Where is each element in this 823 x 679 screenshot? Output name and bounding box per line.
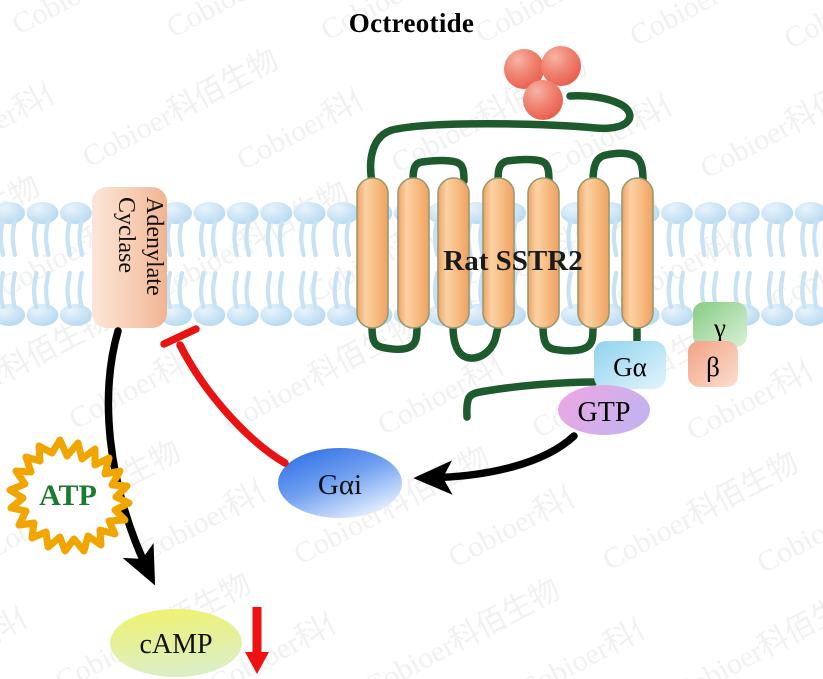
inhibition-arrow bbox=[164, 329, 285, 463]
lipid-tail bbox=[1, 273, 3, 307]
lipid-molecule bbox=[795, 202, 823, 255]
intracellular-loop-3 bbox=[543, 326, 593, 351]
pathway-diagram: Cobioer科佰生物 Cobioer科佰生物 bbox=[0, 0, 823, 679]
camp-label: cAMP bbox=[139, 629, 212, 660]
receptor-label: Rat SSTR2 bbox=[443, 245, 582, 277]
lipid-tail bbox=[280, 221, 282, 255]
adenylate-cyclase: Cyclase Adenylate bbox=[92, 187, 167, 328]
lipid-head bbox=[761, 304, 793, 326]
lipid-head bbox=[294, 202, 326, 224]
adenylate-cyclase-label-line1: Adenylate bbox=[141, 197, 167, 296]
atp-molecule: ATP bbox=[10, 440, 129, 551]
lipid-molecule bbox=[761, 202, 793, 255]
lipid-head bbox=[260, 202, 292, 224]
lipid-tail bbox=[614, 221, 616, 255]
lipid-tail bbox=[268, 221, 270, 255]
g-beta-label: β bbox=[706, 352, 720, 382]
lipid-head bbox=[694, 202, 726, 224]
lipid-tail bbox=[246, 221, 248, 255]
lipid-tail bbox=[313, 221, 315, 255]
lipid-molecule bbox=[193, 273, 225, 326]
lipid-tail bbox=[714, 221, 716, 255]
camp-molecule: cAMP bbox=[110, 609, 242, 677]
lipid-molecule bbox=[795, 273, 823, 326]
lipid-tail bbox=[46, 273, 48, 307]
lipid-tail bbox=[201, 221, 203, 255]
lipid-molecule bbox=[327, 202, 359, 255]
lipid-head bbox=[260, 304, 292, 326]
lipid-molecule bbox=[728, 202, 760, 255]
lipid-tail bbox=[180, 221, 182, 255]
lipid-tail bbox=[681, 273, 683, 307]
lipid-molecule bbox=[26, 202, 58, 255]
lipid-tail bbox=[168, 273, 170, 307]
lipid-head bbox=[661, 304, 693, 326]
lipid-tail bbox=[769, 273, 771, 307]
lipid-molecule bbox=[193, 202, 225, 255]
inhibition-arrow-shaft bbox=[180, 345, 285, 463]
lipid-molecule bbox=[0, 202, 25, 255]
page-title: Octreotide bbox=[0, 8, 823, 39]
lipid-tail bbox=[747, 221, 749, 255]
lipid-molecule bbox=[227, 273, 259, 326]
extracellular-loop-3 bbox=[593, 153, 643, 181]
lipid-tail bbox=[180, 273, 182, 307]
lipid-tail bbox=[301, 273, 303, 307]
lipid-head bbox=[26, 304, 58, 326]
lipid-tail bbox=[79, 273, 81, 307]
lipid-tail bbox=[335, 221, 337, 255]
gtp-label: GTP bbox=[578, 397, 631, 428]
lipid-molecule bbox=[260, 202, 292, 255]
cyclase-to-camp-arrow bbox=[108, 331, 150, 575]
lipid-tail bbox=[67, 221, 69, 255]
lipid-tail bbox=[79, 221, 81, 255]
lipid-tail bbox=[213, 221, 215, 255]
intracellular-loop-2 bbox=[453, 326, 498, 358]
lipid-molecule bbox=[60, 202, 92, 255]
lipid-molecule bbox=[694, 202, 726, 255]
intracellular-loop-1 bbox=[372, 326, 417, 349]
lipid-tail bbox=[234, 273, 236, 307]
lipid-tail bbox=[702, 273, 704, 307]
helix-2 bbox=[398, 178, 429, 328]
lipid-head bbox=[294, 304, 326, 326]
lipid-tail bbox=[781, 221, 783, 255]
lipid-head bbox=[60, 202, 92, 224]
lipid-tail bbox=[67, 273, 69, 307]
lipid-head bbox=[26, 202, 58, 224]
lipid-tail bbox=[335, 273, 337, 307]
lipid-tail bbox=[681, 221, 683, 255]
lipid-tail bbox=[735, 273, 737, 307]
lipid-head bbox=[327, 304, 359, 326]
lipid-tail bbox=[280, 273, 282, 307]
lipid-head bbox=[761, 202, 793, 224]
lipid-tail bbox=[769, 221, 771, 255]
lipid-molecule bbox=[327, 273, 359, 326]
lipid-tail bbox=[168, 221, 170, 255]
lipid-tail bbox=[568, 273, 570, 307]
lipid-tail bbox=[669, 273, 671, 307]
gai-label: Gαi bbox=[318, 469, 362, 501]
lipid-tail bbox=[714, 273, 716, 307]
lipid-tail bbox=[435, 273, 437, 307]
g-alpha-i: Gαi bbox=[278, 448, 402, 518]
octreotide-ligand bbox=[504, 46, 581, 120]
lipid-tail bbox=[13, 273, 15, 307]
lipid-tail bbox=[213, 273, 215, 307]
lipid-tail bbox=[201, 273, 203, 307]
lipid-tail bbox=[614, 273, 616, 307]
lipid-molecule bbox=[60, 273, 92, 326]
helix-1 bbox=[357, 178, 388, 328]
lipid-tail bbox=[268, 273, 270, 307]
lipid-tail bbox=[246, 273, 248, 307]
lipid-tail bbox=[702, 221, 704, 255]
lipid-tail bbox=[46, 221, 48, 255]
lipid-molecule bbox=[661, 202, 693, 255]
lipid-tail bbox=[347, 221, 349, 255]
lipid-molecule bbox=[294, 202, 326, 255]
g-alpha-label: Gα bbox=[613, 352, 647, 382]
lipid-molecule bbox=[661, 273, 693, 326]
lipid-tail bbox=[802, 273, 804, 307]
diagram-layer: Rat SSTR2 Cyclase Adenylate γ β Gα GTP bbox=[0, 0, 823, 679]
lipid-molecule bbox=[761, 273, 793, 326]
lipid-molecule bbox=[227, 202, 259, 255]
lipid-tail bbox=[347, 273, 349, 307]
lipid-tail bbox=[669, 221, 671, 255]
lipid-head bbox=[795, 202, 823, 224]
lipid-tail bbox=[802, 221, 804, 255]
lipid-head bbox=[227, 202, 259, 224]
camp-decrease-arrow bbox=[245, 607, 269, 674]
lipid-head bbox=[327, 202, 359, 224]
lipid-tail bbox=[435, 221, 437, 255]
lipid-molecule bbox=[26, 273, 58, 326]
ligand-ball-2 bbox=[541, 46, 581, 86]
lipid-head bbox=[227, 304, 259, 326]
lipid-head bbox=[661, 202, 693, 224]
lipid-tail bbox=[234, 221, 236, 255]
lipid-tail bbox=[814, 273, 816, 307]
lipid-tail bbox=[1, 221, 3, 255]
lipid-tail bbox=[747, 273, 749, 307]
helix-7 bbox=[622, 178, 653, 328]
adenylate-cyclase-label-line2: Cyclase bbox=[113, 197, 139, 273]
g-gamma-label: γ bbox=[713, 313, 726, 343]
gtp-to-gai-arrow bbox=[425, 436, 574, 478]
lipid-tail bbox=[781, 273, 783, 307]
ligand-ball-3 bbox=[523, 80, 563, 120]
lipid-tail bbox=[34, 273, 36, 307]
lipid-tail bbox=[301, 221, 303, 255]
lipid-head bbox=[728, 202, 760, 224]
lipid-molecule bbox=[260, 273, 292, 326]
lipid-tail bbox=[34, 221, 36, 255]
lipid-head bbox=[795, 304, 823, 326]
lipid-tail bbox=[735, 221, 737, 255]
lipid-head bbox=[60, 304, 92, 326]
atp-label: ATP bbox=[39, 479, 97, 512]
lipid-tail bbox=[13, 221, 15, 255]
lipid-molecule bbox=[294, 273, 326, 326]
lipid-tail bbox=[814, 221, 816, 255]
lipid-head bbox=[193, 202, 225, 224]
lipid-tail bbox=[313, 273, 315, 307]
lipid-molecule bbox=[0, 273, 25, 326]
lipid-head bbox=[193, 304, 225, 326]
